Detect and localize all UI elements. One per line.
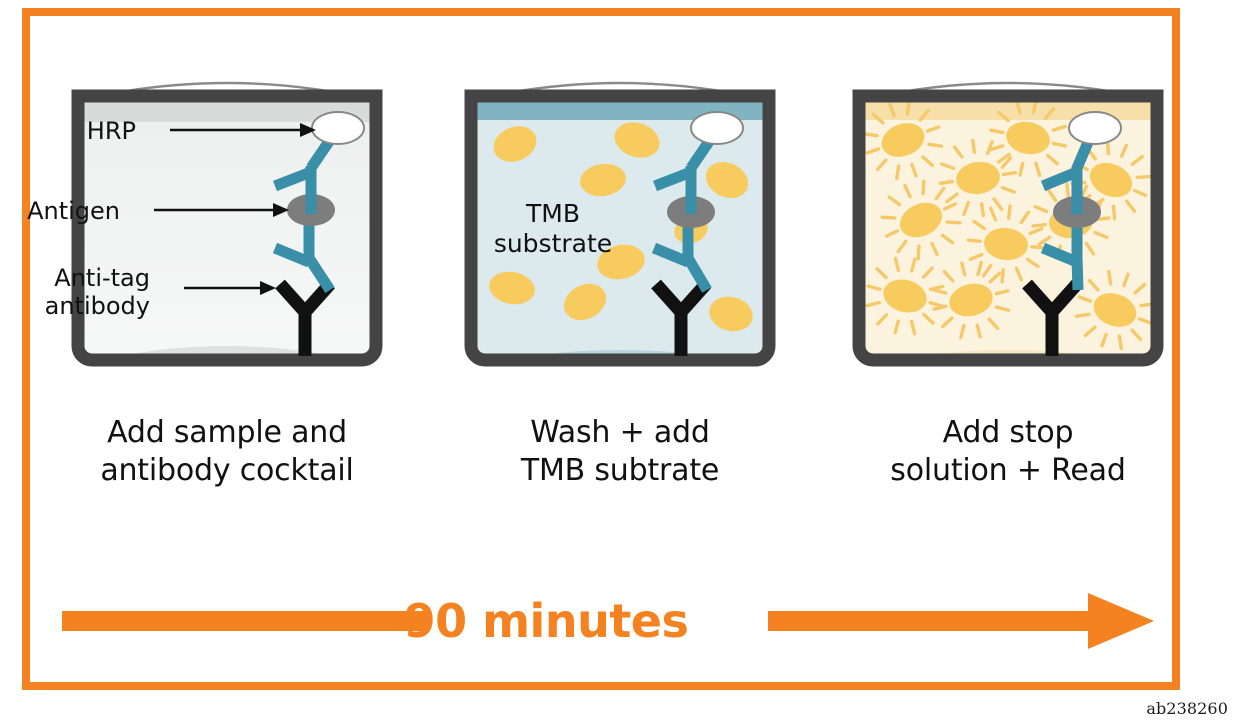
caption-1-line2: antibody cocktail	[62, 452, 392, 490]
well-3	[843, 62, 1173, 382]
well-1: HRP Antigen Anti-tag antibody	[62, 62, 392, 382]
label-antitag-line2: antibody	[45, 292, 150, 320]
timeline-arrowhead	[1088, 593, 1154, 649]
in-well-label-2-line1: TMB	[525, 199, 580, 228]
in-well-label-2-line2: substrate	[494, 229, 612, 258]
caption-2-line1: Wash + add	[530, 415, 709, 450]
timeline-bar-left	[62, 611, 430, 631]
diagram-canvas: HRP Antigen Anti-tag antibody Add sample…	[0, 0, 1234, 720]
label-hrp: HRP	[87, 117, 136, 145]
panel-step-1: HRP Antigen Anti-tag antibody Add sample…	[62, 62, 392, 392]
caption-step-2: Wash + add TMB subtrate	[455, 414, 785, 491]
duration-timeline	[62, 585, 1154, 657]
label-antigen: Antigen	[27, 197, 120, 225]
caption-step-3: Add stop solution + Read	[843, 414, 1173, 491]
label-antitag-line1: Anti-tag	[54, 264, 150, 292]
caption-3-line1: Add stop	[943, 415, 1074, 450]
panel-step-2: TMB substrate Wash + add TMB subtrate	[455, 62, 785, 392]
panel-step-3: Add stop solution + Read	[843, 62, 1173, 392]
catalog-code: ab238260	[1146, 699, 1228, 718]
hrp-glyph-2	[691, 112, 743, 144]
caption-step-1: Add sample and antibody cocktail	[62, 414, 392, 491]
timeline-bar-right	[768, 611, 1098, 631]
caption-1-line1: Add sample and	[107, 415, 347, 450]
hrp-glyph-1	[312, 112, 364, 144]
caption-3-line2: solution + Read	[843, 452, 1173, 490]
well-2: TMB substrate	[455, 62, 785, 382]
hrp-glyph-3	[1069, 112, 1121, 144]
caption-2-line2: TMB subtrate	[455, 452, 785, 490]
